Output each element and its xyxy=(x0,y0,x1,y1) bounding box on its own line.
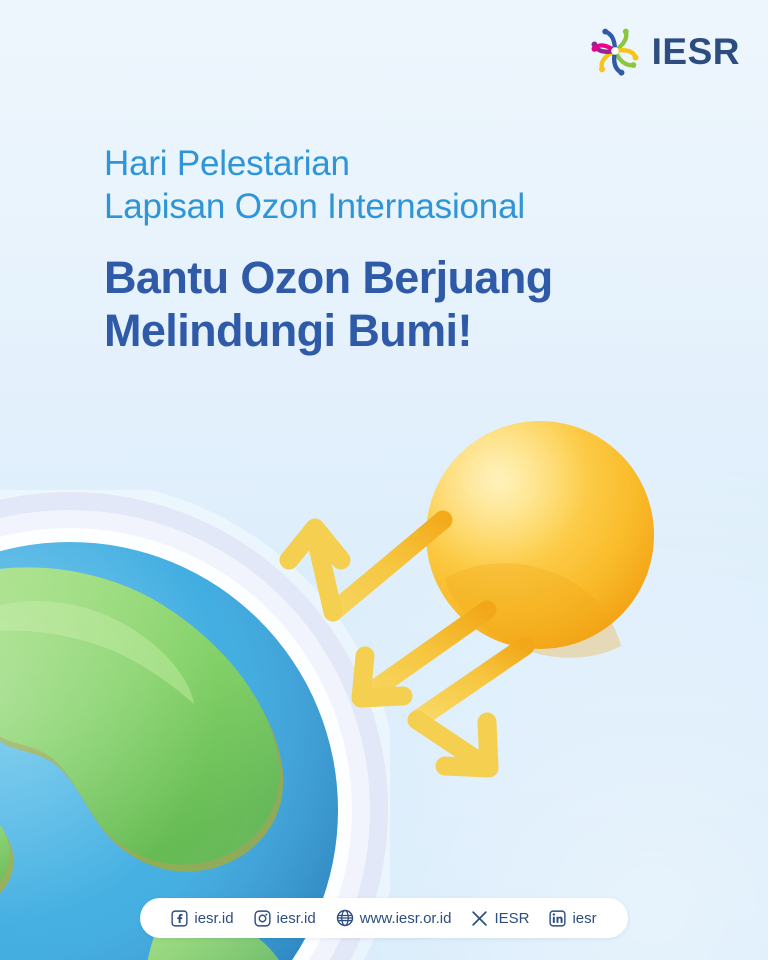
uv-ray-deflected-down-right xyxy=(417,646,525,768)
headline-block: Hari Pelestarian Lapisan Ozon Internasio… xyxy=(104,142,724,357)
social-label-instagram: iesr.id xyxy=(277,910,316,927)
eyebrow-heading: Hari Pelestarian Lapisan Ozon Internasio… xyxy=(104,142,724,229)
social-links-bar: iesr.id iesr.id www.iesr.or.id IESR xyxy=(140,898,628,938)
linkedin-icon xyxy=(549,910,566,927)
social-label-linkedin: iesr xyxy=(572,910,596,927)
instagram-icon xyxy=(254,910,271,927)
eyebrow-line-1: Hari Pelestarian xyxy=(104,142,724,185)
eyebrow-line-2: Lapisan Ozon Internasional xyxy=(104,185,724,228)
main-title: Bantu Ozon Berjuang Melindungi Bumi! xyxy=(104,251,724,357)
brand-logo[interactable]: IESR xyxy=(588,24,740,78)
globe-icon xyxy=(336,909,354,927)
social-label-x: IESR xyxy=(494,910,529,927)
social-label-facebook: iesr.id xyxy=(194,910,233,927)
uv-ray-deflected-up xyxy=(289,520,443,612)
social-link-x[interactable]: IESR xyxy=(471,910,529,927)
title-line-2: Melindungi Bumi! xyxy=(104,304,724,357)
title-line-1: Bantu Ozon Berjuang xyxy=(104,251,724,304)
x-twitter-icon xyxy=(471,910,488,927)
logo-wordmark: IESR xyxy=(652,33,740,70)
social-link-instagram[interactable]: iesr.id xyxy=(254,910,316,927)
iesr-pinwheel-logo-icon xyxy=(588,24,642,78)
uv-rays-group xyxy=(275,498,565,788)
social-link-website[interactable]: www.iesr.or.id xyxy=(336,909,452,927)
facebook-icon xyxy=(171,910,188,927)
social-link-linkedin[interactable]: iesr xyxy=(549,910,596,927)
social-label-website: www.iesr.or.id xyxy=(360,910,452,927)
poster-canvas: IESR Hari Pelestarian Lapisan Ozon Inter… xyxy=(0,0,768,960)
social-link-facebook[interactable]: iesr.id xyxy=(171,910,233,927)
